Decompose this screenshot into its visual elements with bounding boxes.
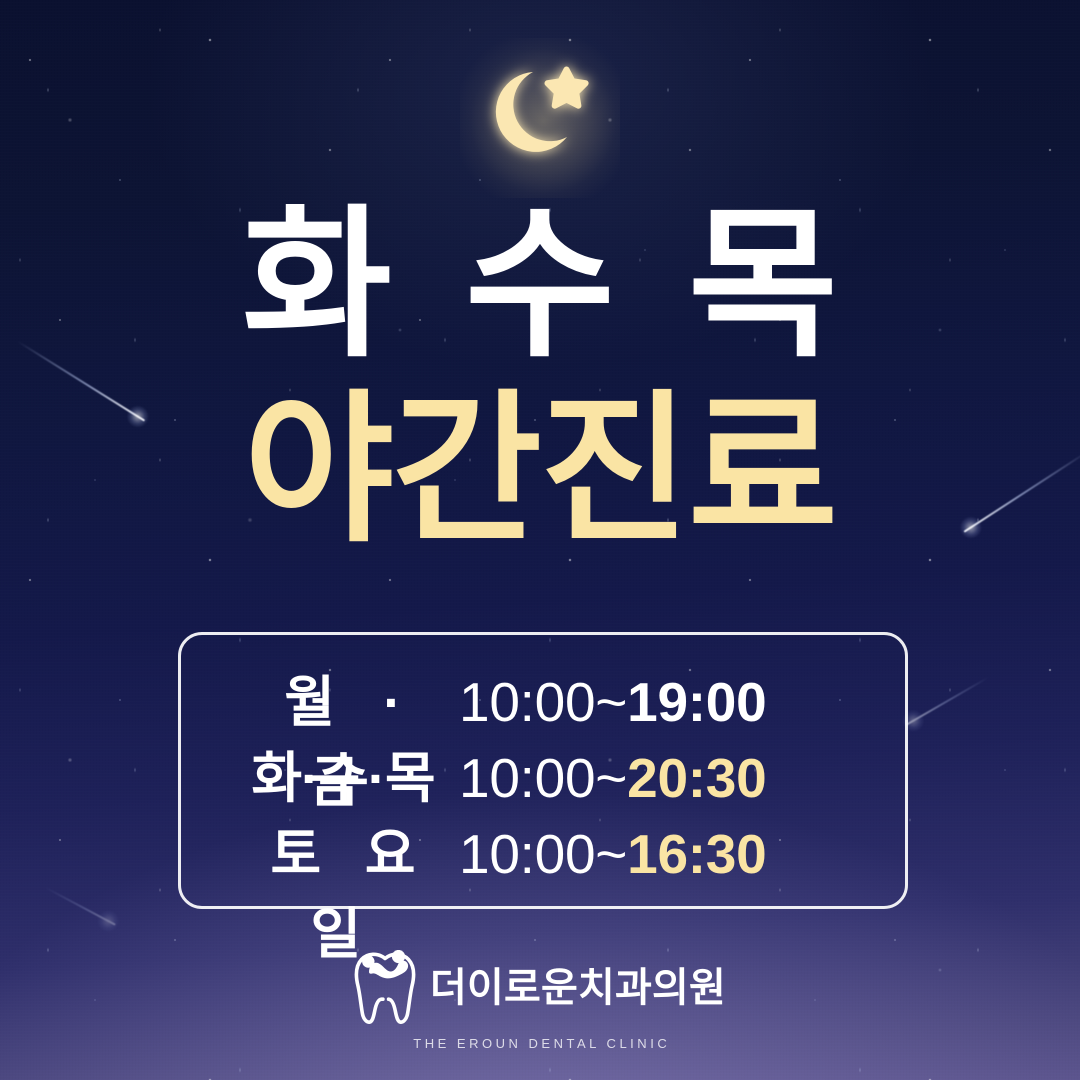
hero-title-block: 화 수 목 야간진료 — [0, 203, 1080, 551]
night-clinic-hours-poster: 화 수 목 야간진료 월 · 금 10:00~19:00 화·수·목 10:00… — [0, 0, 1080, 1080]
page-title-days: 화 수 목 — [0, 203, 1080, 366]
hours-time-value: 10:00~19:00 — [459, 670, 859, 734]
logo-row: 더이로운치과의원 — [354, 950, 726, 1026]
hours-day-label: 화·수·목 — [227, 733, 459, 813]
page-title-service: 야간진료 — [0, 388, 1080, 551]
hours-row: 토 요 일 10:00~16:30 — [181, 809, 905, 885]
hours-day-label: 토 요 일 — [227, 809, 459, 969]
hours-close-time: 19:00 — [627, 671, 766, 733]
crescent-moon-with-star-icon — [475, 53, 605, 183]
clinic-name: 더이로운치과의원 — [430, 968, 726, 1008]
hours-open-time: 10:00 — [459, 823, 595, 885]
opening-hours-card: 월 · 금 10:00~19:00 화·수·목 10:00~20:30 토 요 … — [178, 632, 908, 909]
hours-time-value: 10:00~20:30 — [459, 746, 859, 810]
clinic-name-english: THE EROUN DENTAL CLINIC — [410, 1036, 670, 1051]
moon-icon-container — [0, 38, 1080, 198]
hours-open-time: 10:00 — [459, 671, 595, 733]
hours-time-value: 10:00~16:30 — [459, 822, 859, 886]
hours-row: 화·수·목 10:00~20:30 — [181, 733, 905, 809]
hours-separator: ~ — [595, 823, 627, 885]
hours-separator: ~ — [595, 671, 627, 733]
shooting-star-icon — [906, 676, 989, 725]
hours-close-time: 16:30 — [627, 823, 766, 885]
moon-glow — [460, 38, 620, 198]
hours-row: 월 · 금 10:00~19:00 — [181, 657, 905, 733]
hours-close-time: 20:30 — [627, 747, 766, 809]
shooting-star-icon — [44, 886, 116, 925]
tooth-with-two-figures-logo-icon — [354, 950, 416, 1026]
clinic-logo-block: 더이로운치과의원 THE EROUN DENTAL CLINIC — [0, 950, 1080, 1051]
hours-open-time: 10:00 — [459, 747, 595, 809]
hours-separator: ~ — [595, 747, 627, 809]
